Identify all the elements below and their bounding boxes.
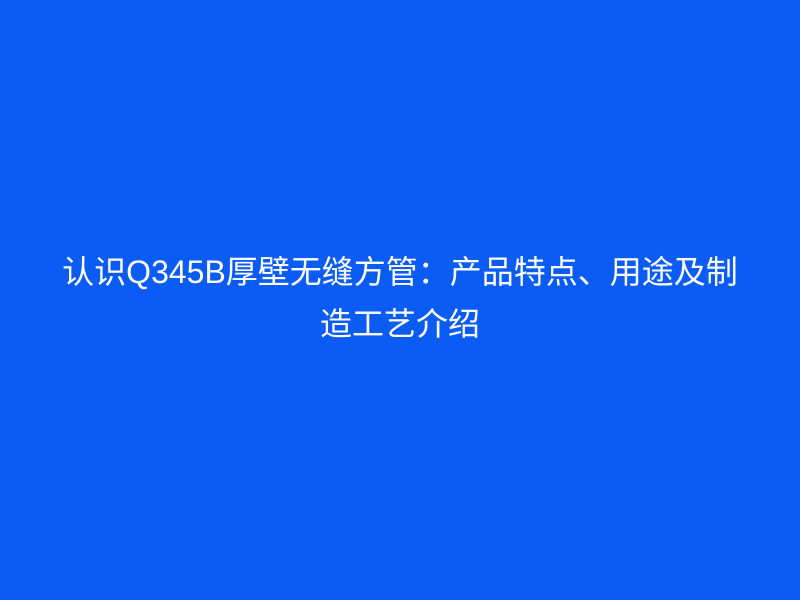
banner-canvas: 认识Q345B厚壁无缝方管：产品特点、用途及制造工艺介绍 xyxy=(0,0,800,600)
title-block: 认识Q345B厚壁无缝方管：产品特点、用途及制造工艺介绍 xyxy=(50,246,750,350)
page-title: 认识Q345B厚壁无缝方管：产品特点、用途及制造工艺介绍 xyxy=(50,246,750,350)
